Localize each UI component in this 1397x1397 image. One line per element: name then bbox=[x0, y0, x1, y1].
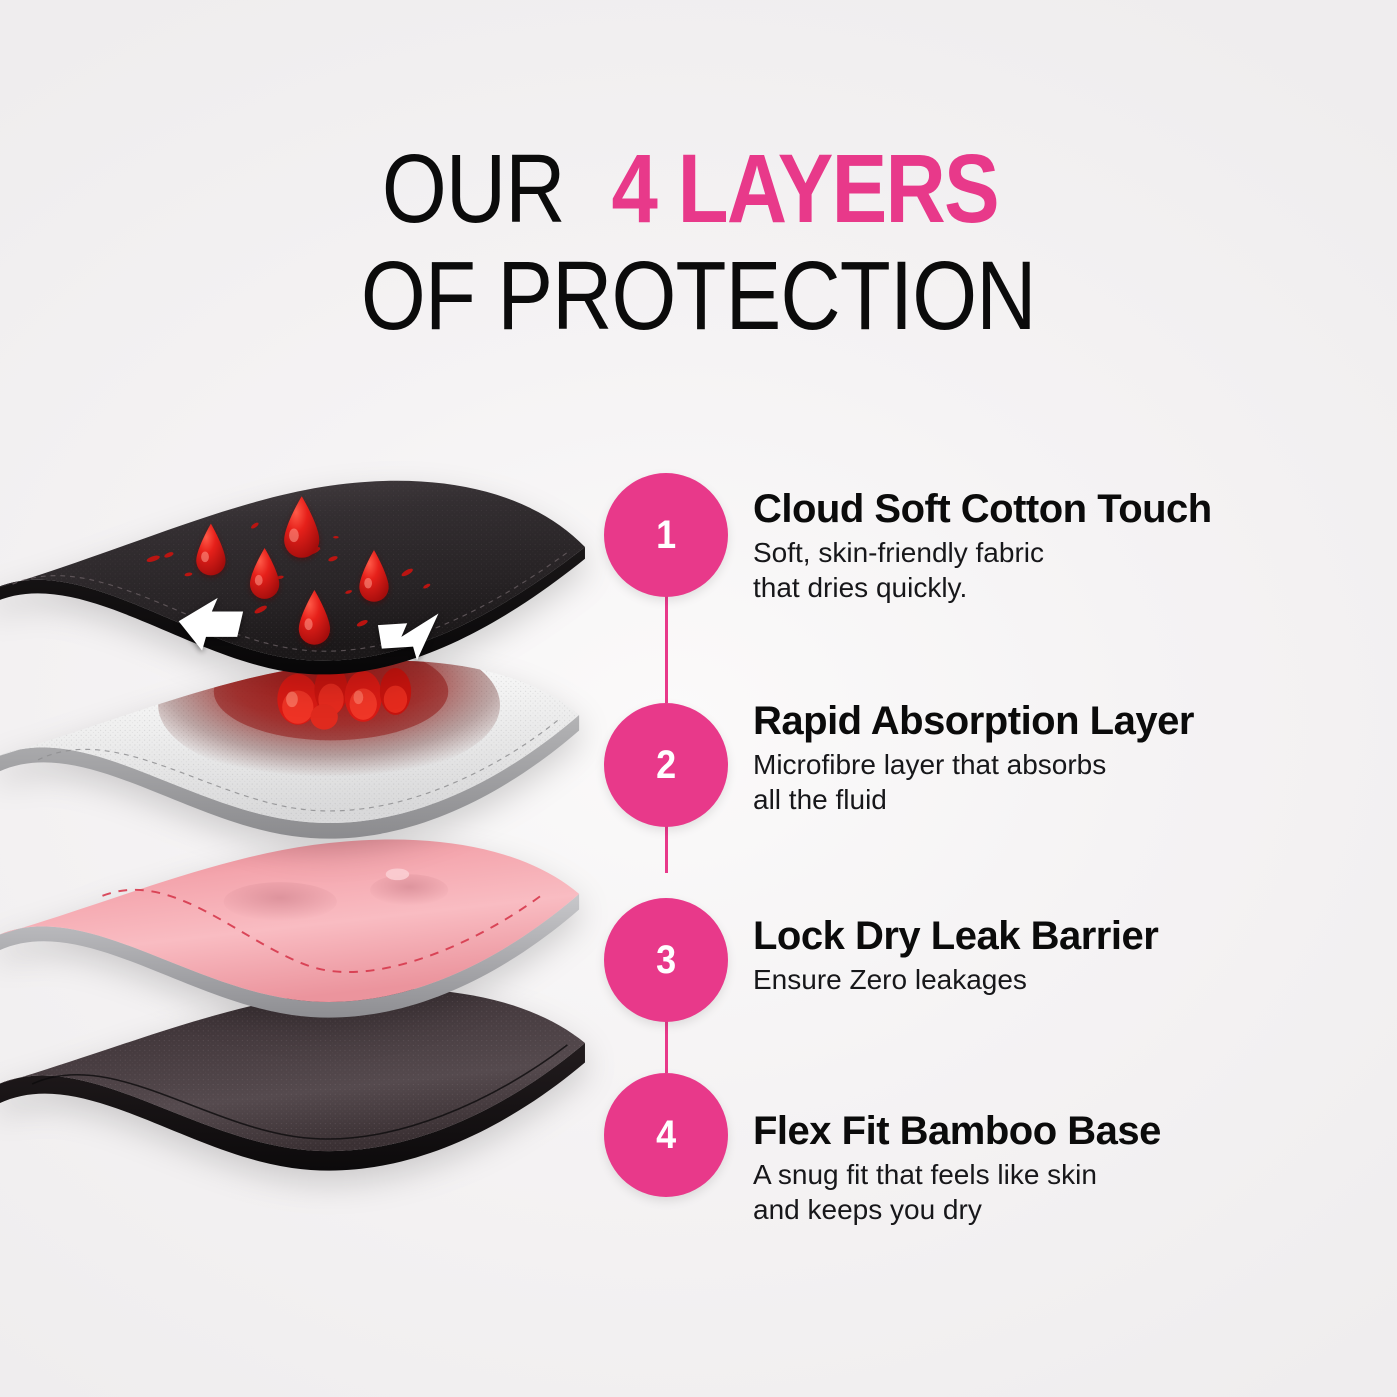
step-title-4: Flex Fit Bamboo Base bbox=[753, 1110, 1373, 1153]
step-desc-3-line-1: Ensure Zero leakages bbox=[753, 962, 1373, 997]
product-layers-illustration bbox=[0, 455, 640, 1245]
layer-1-cotton-top-sheet bbox=[0, 465, 600, 675]
step-text-block-1: Cloud Soft Cotton Touch Soft, skin-frien… bbox=[753, 488, 1373, 606]
step-desc-2-line-1: Microfibre layer that absorbs bbox=[753, 747, 1373, 782]
step-badge-2[interactable]: 2 bbox=[604, 703, 728, 827]
step-desc-1-line-2: that dries quickly. bbox=[753, 570, 1373, 605]
step-badge-1[interactable]: 1 bbox=[604, 473, 728, 597]
step-desc-4: A snug fit that feels like skin and keep… bbox=[753, 1157, 1373, 1228]
step-title-1: Cloud Soft Cotton Touch bbox=[753, 488, 1373, 531]
step-text-block-2: Rapid Absorption Layer Microfibre layer … bbox=[753, 700, 1373, 818]
page-title: OUR 4 LAYERS OF PROTECTION bbox=[0, 140, 1397, 344]
step-title-3: Lock Dry Leak Barrier bbox=[753, 915, 1373, 958]
step-desc-3: Ensure Zero leakages bbox=[753, 962, 1373, 997]
step-number-2: 2 bbox=[656, 745, 676, 785]
step-badge-4[interactable]: 4 bbox=[604, 1073, 728, 1197]
step-desc-2: Microfibre layer that absorbs all the fl… bbox=[753, 747, 1373, 818]
connector-line-1-2 bbox=[665, 593, 668, 703]
title-layers-text: 4 LAYERS bbox=[612, 140, 999, 237]
step-text-block-4: Flex Fit Bamboo Base A snug fit that fee… bbox=[753, 1110, 1373, 1228]
step-number-1: 1 bbox=[656, 515, 676, 555]
step-desc-4-line-1: A snug fit that feels like skin bbox=[753, 1157, 1373, 1192]
step-title-2: Rapid Absorption Layer bbox=[753, 700, 1373, 743]
title-line-2: OF PROTECTION bbox=[0, 247, 1397, 344]
steps-timeline: 1 2 3 4 bbox=[604, 473, 730, 1243]
step-badge-3[interactable]: 3 bbox=[604, 898, 728, 1022]
step-text-block-3: Lock Dry Leak Barrier Ensure Zero leakag… bbox=[753, 915, 1373, 997]
step-number-3: 3 bbox=[656, 940, 676, 980]
title-protection-text: OF PROTECTION bbox=[361, 247, 1036, 344]
step-desc-1: Soft, skin-friendly fabric that dries qu… bbox=[753, 535, 1373, 606]
step-desc-4-line-2: and keeps you dry bbox=[753, 1192, 1373, 1227]
step-desc-2-line-2: all the fluid bbox=[753, 782, 1373, 817]
step-desc-1-line-1: Soft, skin-friendly fabric bbox=[753, 535, 1373, 570]
step-number-4: 4 bbox=[656, 1115, 676, 1155]
title-line-1: OUR 4 LAYERS bbox=[0, 140, 1397, 237]
title-our-text: OUR bbox=[382, 140, 565, 237]
layer-2-absorption-sheet bbox=[0, 670, 600, 880]
